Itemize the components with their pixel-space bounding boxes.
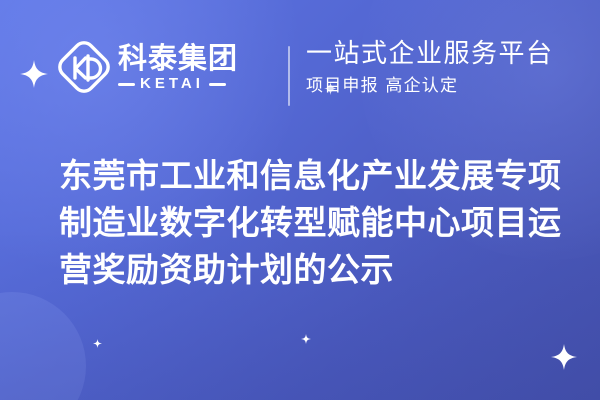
- brand-name-en-row: KETAI: [118, 76, 278, 92]
- announcement-banner: 科泰集团 KETAI 一站式企业服务平台 项目申报 高企认定 东莞市工业和信息化…: [0, 0, 600, 400]
- headline-line-1: 东莞市工业和信息化产业发展专项: [59, 152, 579, 199]
- headline-line-3: 营奖励资助计划的公示: [59, 246, 579, 293]
- wordmark-rule-right: [209, 83, 226, 86]
- wordmark-rule-left: [118, 83, 135, 86]
- sparkle-diamond-two-icon: [301, 334, 311, 344]
- background-circle-bottom-left: [0, 292, 86, 400]
- brand-wordmark: 科泰集团 KETAI: [118, 42, 278, 92]
- sparkle-diamond-one-icon: [93, 339, 102, 348]
- headline-line-2: 制造业数字化转型赋能中心项目运: [59, 199, 579, 246]
- brand-header: 科泰集团 KETAI 一站式企业服务平台 项目申报 高企认定: [0, 36, 600, 116]
- tagline-block: 一站式企业服务平台 项目申报 高企认定: [306, 38, 586, 97]
- ketai-monogram-icon: [55, 38, 113, 96]
- brand-name-cn: 科泰集团: [118, 42, 278, 74]
- sparkle-star-bottom-right-icon: [551, 344, 577, 370]
- brand-name-en: KETAI: [140, 76, 204, 92]
- tagline-secondary: 项目申报 高企认定: [306, 75, 586, 97]
- header-divider: [288, 46, 290, 106]
- headline-title: 东莞市工业和信息化产业发展专项 制造业数字化转型赋能中心项目运 营奖励资助计划的…: [59, 152, 579, 293]
- tagline-primary: 一站式企业服务平台: [306, 38, 586, 71]
